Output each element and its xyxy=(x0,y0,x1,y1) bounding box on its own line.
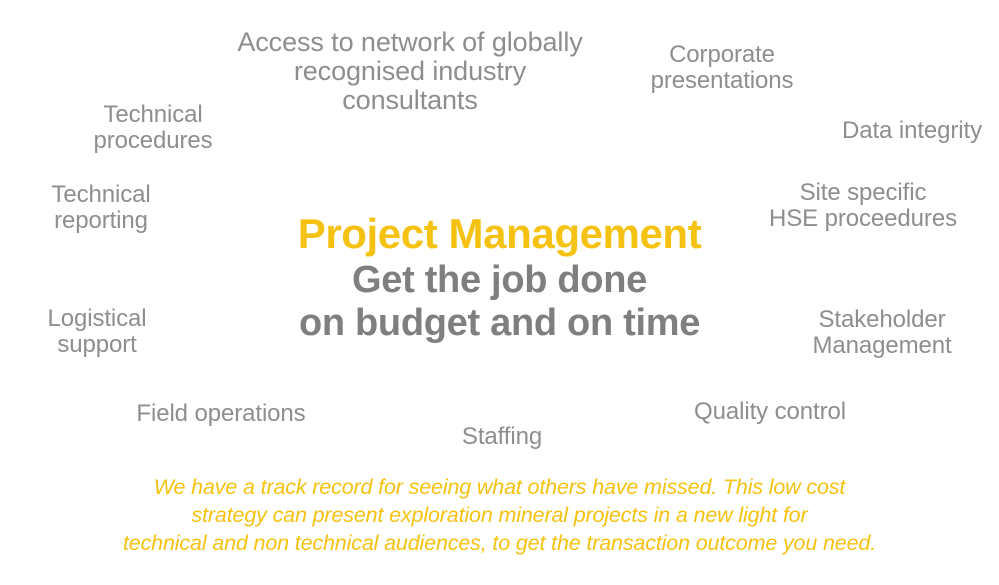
keyword-technical-procedures: Technical procedures xyxy=(42,102,264,154)
strapline: We have a track record for seeing what o… xyxy=(6,473,993,557)
word-cloud-slide: Access to network of globally recognised… xyxy=(0,0,999,585)
keyword-corporate-presentations: Corporate presentations xyxy=(592,42,852,94)
keyword-data-integrity: Data integrity xyxy=(700,118,982,144)
keyword-staffing: Staffing xyxy=(404,424,600,450)
keyword-quality-control: Quality control xyxy=(650,399,890,425)
hero-block: Project Management Get the job done on b… xyxy=(0,210,999,344)
strapline-line-3: technical and non technical audiences, t… xyxy=(6,529,993,557)
strapline-line-1: We have a track record for seeing what o… xyxy=(6,473,993,501)
strapline-line-2: strategy can present exploration mineral… xyxy=(6,501,993,529)
keyword-field-operations: Field operations xyxy=(92,401,350,427)
hero-subtitle: Get the job done on budget and on time xyxy=(0,259,999,344)
hero-title: Project Management xyxy=(0,210,999,257)
keyword-access-to-network: Access to network of globally recognised… xyxy=(228,28,592,115)
